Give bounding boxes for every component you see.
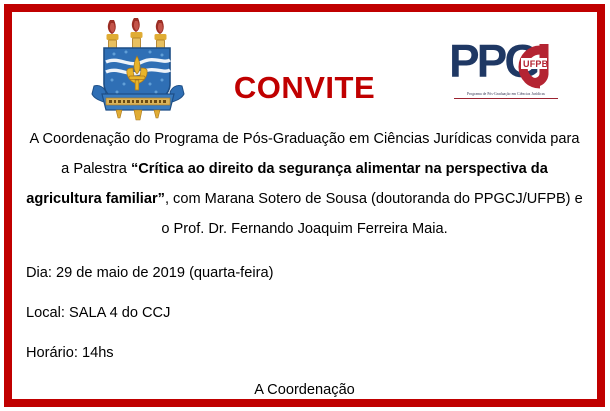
invitation-red-frame: CONVITE PPG UFPB Programa de Pós-Graduaç… bbox=[4, 4, 605, 407]
header-row: CONVITE PPG UFPB Programa de Pós-Graduaç… bbox=[12, 12, 597, 124]
invitation-card: CONVITE PPG UFPB Programa de Pós-Graduaç… bbox=[0, 0, 610, 411]
detail-time: Horário: 14hs bbox=[26, 342, 597, 364]
signature-line: A Coordenação bbox=[12, 382, 597, 398]
detail-date: Dia: 29 de maio de 2019 (quarta-feira) bbox=[26, 262, 597, 284]
body-line-suffix: , com Marana Sotero de Sousa (doutoranda… bbox=[161, 191, 582, 237]
detail-location: Local: SALA 4 do CCJ bbox=[26, 302, 597, 324]
ppgcj-logo: PPG UFPB Programa de Pós-Graduação em Ci… bbox=[448, 30, 563, 114]
close-quote: ” bbox=[158, 191, 165, 207]
ppgcj-tagline: Programa de Pós-Graduação em Ciências Ju… bbox=[454, 92, 558, 99]
event-details: Dia: 29 de maio de 2019 (quarta-feira) L… bbox=[26, 262, 597, 364]
invitation-body-paragraph: A Coordenação do Programa de Pós-Graduaç… bbox=[26, 124, 583, 244]
svg-text:UFPB: UFPB bbox=[523, 59, 549, 69]
ufpb-coat-of-arms-icon bbox=[86, 14, 190, 124]
